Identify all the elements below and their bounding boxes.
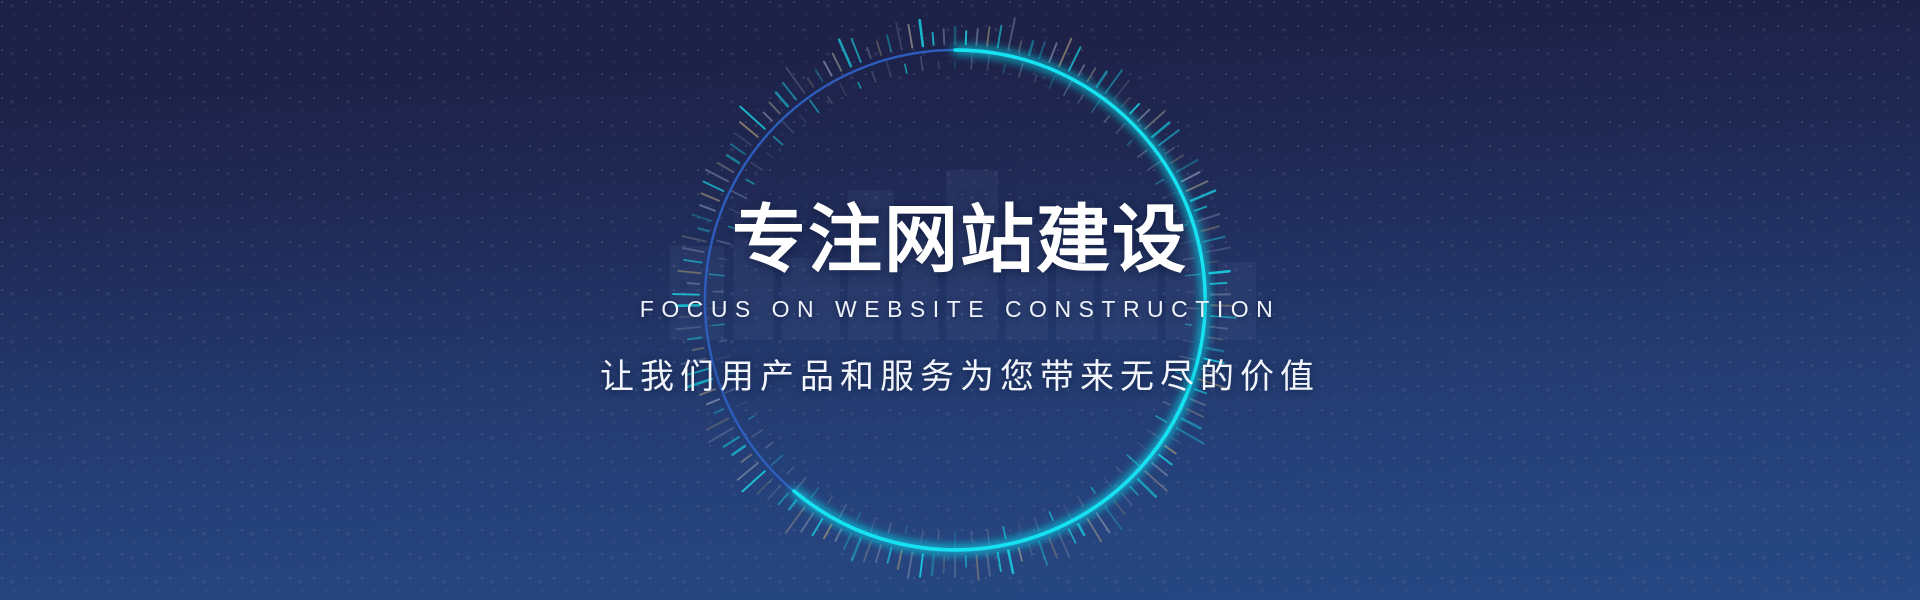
banner-tagline: 让我们用产品和服务为您带来无尽的价值 [600,349,1320,398]
banner-subtitle: FOCUS ON WEBSITE CONSTRUCTION [640,296,1280,323]
hero-banner: 专注网站建设 FOCUS ON WEBSITE CONSTRUCTION 让我们… [0,0,1920,600]
banner-content: 专注网站建设 FOCUS ON WEBSITE CONSTRUCTION 让我们… [0,0,1920,600]
banner-title: 专注网站建设 [732,202,1188,279]
